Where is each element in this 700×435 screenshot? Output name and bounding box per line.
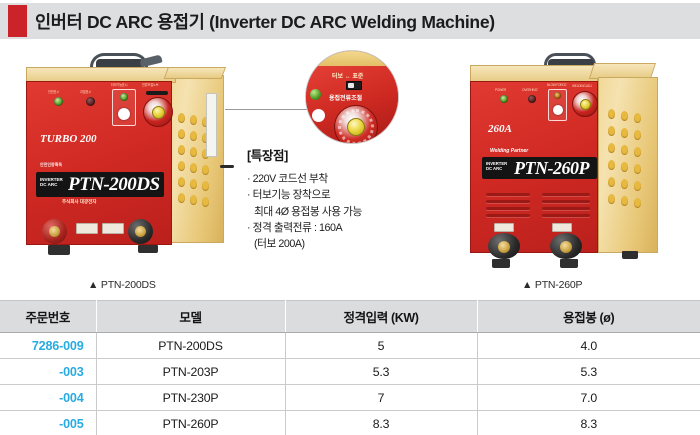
overheat-led-right: [528, 95, 536, 103]
caption-left: ▲ PTN-200DS: [88, 279, 156, 291]
cell-model: PTN-203P: [96, 359, 285, 385]
welding-adj-knob: [580, 99, 591, 110]
holder-connector-core-right: [498, 241, 510, 253]
power-cable: [220, 165, 234, 168]
model-text-right: PTN-260P: [514, 158, 589, 179]
label-current: 전류조절노브: [142, 82, 158, 87]
spec-table: 주문번호 모델 정격입력 (KW) 용접봉 (ø) 7286-009 PTN-2…: [0, 300, 700, 435]
cert-text: 안전인증획득: [40, 163, 62, 167]
label-welding-adj: WELDING ADJ.: [572, 84, 592, 88]
feature-item-2-main: · 터보기능 장착으로: [247, 189, 330, 201]
foot-side-right: [622, 251, 638, 259]
callout-dial-center: [347, 118, 365, 136]
amp-text-right: 260A: [488, 123, 512, 135]
product-illustration-area: 전원표시 과열표시 터보기능표시 전류조절노브 TURBO 200 안전인증획득…: [0, 45, 700, 295]
power-led-right: [500, 95, 508, 103]
column-header-order-no: 주문번호: [0, 301, 96, 333]
table-row: 7286-009 PTN-200DS 5 4.0: [0, 333, 700, 359]
label-overheat: 과열표시: [80, 89, 91, 94]
table-row: -003 PTN-203P 5.3 5.3: [0, 359, 700, 385]
cell-rated-input: 7: [285, 385, 477, 411]
cell-rated-input: 5: [285, 333, 477, 359]
side-panel-right: [598, 77, 658, 253]
holder-icon-right: [494, 223, 514, 232]
holder-icon: [76, 223, 98, 234]
foot-right-right: [560, 259, 578, 268]
callout-toggle-switch: [346, 81, 362, 90]
top-cover-right: [164, 67, 226, 79]
callout-detail-circle: 터보 ↔ 표준 용접전류조절 기: [305, 50, 399, 144]
table-row: -004 PTN-230P 7 7.0: [0, 385, 700, 411]
foot-left: [48, 245, 70, 255]
cell-order-no: -004: [0, 385, 96, 411]
feature-item-3-sub: (터보 200A): [247, 236, 412, 252]
product-image-ptn-260p: POWER OVERHEAT BLOW FORCE WELDING ADJ. 2…: [452, 51, 682, 276]
knob-label-plate: [146, 91, 168, 95]
feature-item-3: · 정격 출력전류 : 160A (터보 200A): [247, 220, 412, 253]
header-accent-block: [8, 5, 27, 37]
label-power-right: POWER: [495, 88, 506, 92]
feature-box: [특장점] · 220V 코드선 부착 · 터보기능 장착으로 최대 4Ø 용접…: [247, 145, 412, 252]
callout-current-label: 용접전류조절: [329, 93, 362, 102]
cell-order-no: -003: [0, 359, 96, 385]
column-header-welding-rod: 용접봉 (ø): [477, 301, 700, 333]
table-header-row: 주문번호 모델 정격입력 (KW) 용접봉 (ø): [0, 301, 700, 333]
power-led: [54, 97, 63, 106]
callout-edge-label: 기: [306, 69, 312, 78]
cell-model: PTN-230P: [96, 385, 285, 411]
cell-model: PTN-260P: [96, 411, 285, 435]
turbo-model-text: TURBO 200: [40, 133, 97, 145]
page-root: 인버터 DC ARC 용접기 (Inverter DC ARC Welding …: [0, 0, 700, 435]
tagline-right: Welding Partner: [490, 149, 528, 154]
brand-inverter-dcarc-right: INVERTERDC ARC: [486, 161, 507, 171]
cell-rated-input: 5.3: [285, 359, 477, 385]
overheat-led: [86, 97, 95, 106]
label-blowforce: BLOW FORCE: [547, 83, 566, 87]
label-turbo: 터보기능표시: [111, 82, 127, 87]
cell-model: PTN-200DS: [96, 333, 285, 359]
page-title: 인버터 DC ARC 용접기 (Inverter DC ARC Welding …: [35, 9, 495, 34]
cell-welding-rod: 7.0: [477, 385, 700, 411]
blowforce-rocker: [553, 105, 563, 115]
cell-welding-rod: 4.0: [477, 333, 700, 359]
column-header-rated-input: 정격입력 (KW): [285, 301, 477, 333]
foot-left-right: [492, 259, 510, 268]
label-overheat-right: OVERHEAT: [522, 88, 538, 92]
cell-order-no: -005: [0, 411, 96, 435]
feature-item-3-main: · 정격 출력전류 : 160A: [247, 222, 342, 234]
holder-connector-core: [49, 226, 60, 237]
turbo-led: [120, 93, 128, 101]
foot-right: [138, 245, 158, 253]
cell-welding-rod: 8.3: [477, 411, 700, 435]
caption-right: ▲ PTN-260P: [522, 279, 582, 291]
callout-toggle-label: 터보 ↔ 표준: [332, 71, 363, 80]
feature-item-1-main: · 220V 코드선 부착: [247, 173, 328, 185]
metal-icon: [102, 223, 124, 234]
earth-connector-core: [135, 226, 146, 237]
spec-sticker: [206, 93, 217, 157]
brand-inverter-dcarc: INVERTERDC ARC: [40, 177, 63, 188]
feature-item-2-sub: 최대 4Ø 용접봉 사용 가능: [247, 204, 412, 220]
feature-title: [특장점]: [247, 145, 412, 164]
feature-item-2: · 터보기능 장착으로 최대 4Ø 용접봉 사용 가능: [247, 187, 412, 220]
feature-item-1: · 220V 코드선 부착: [247, 171, 412, 187]
product-image-ptn-200ds: 전원표시 과열표시 터보기능표시 전류조절노브 TURBO 200 안전인증획득…: [18, 53, 233, 268]
cell-rated-input: 8.3: [285, 411, 477, 435]
earth-connector-core-right: [560, 241, 572, 253]
earth-icon-right: [552, 223, 572, 232]
cell-order-no: 7286-009: [0, 333, 96, 359]
feature-list: · 220V 코드선 부착 · 터보기능 장착으로 최대 4Ø 용접봉 사용 가…: [247, 171, 412, 252]
blowforce-led: [554, 92, 561, 99]
label-power: 전원표시: [48, 89, 59, 94]
current-knob: [152, 106, 165, 119]
table-row: -005 PTN-260P 8.3 8.3: [0, 411, 700, 435]
model-text-left: PTN-200DS: [68, 174, 160, 196]
callout-rocker: [312, 109, 325, 122]
cell-welding-rod: 5.3: [477, 359, 700, 385]
sub-brand-text: 주식회사 대광전자: [62, 200, 96, 205]
callout-green-led: [310, 89, 321, 100]
column-header-model: 모델: [96, 301, 285, 333]
turbo-rocker-switch: [118, 108, 130, 120]
